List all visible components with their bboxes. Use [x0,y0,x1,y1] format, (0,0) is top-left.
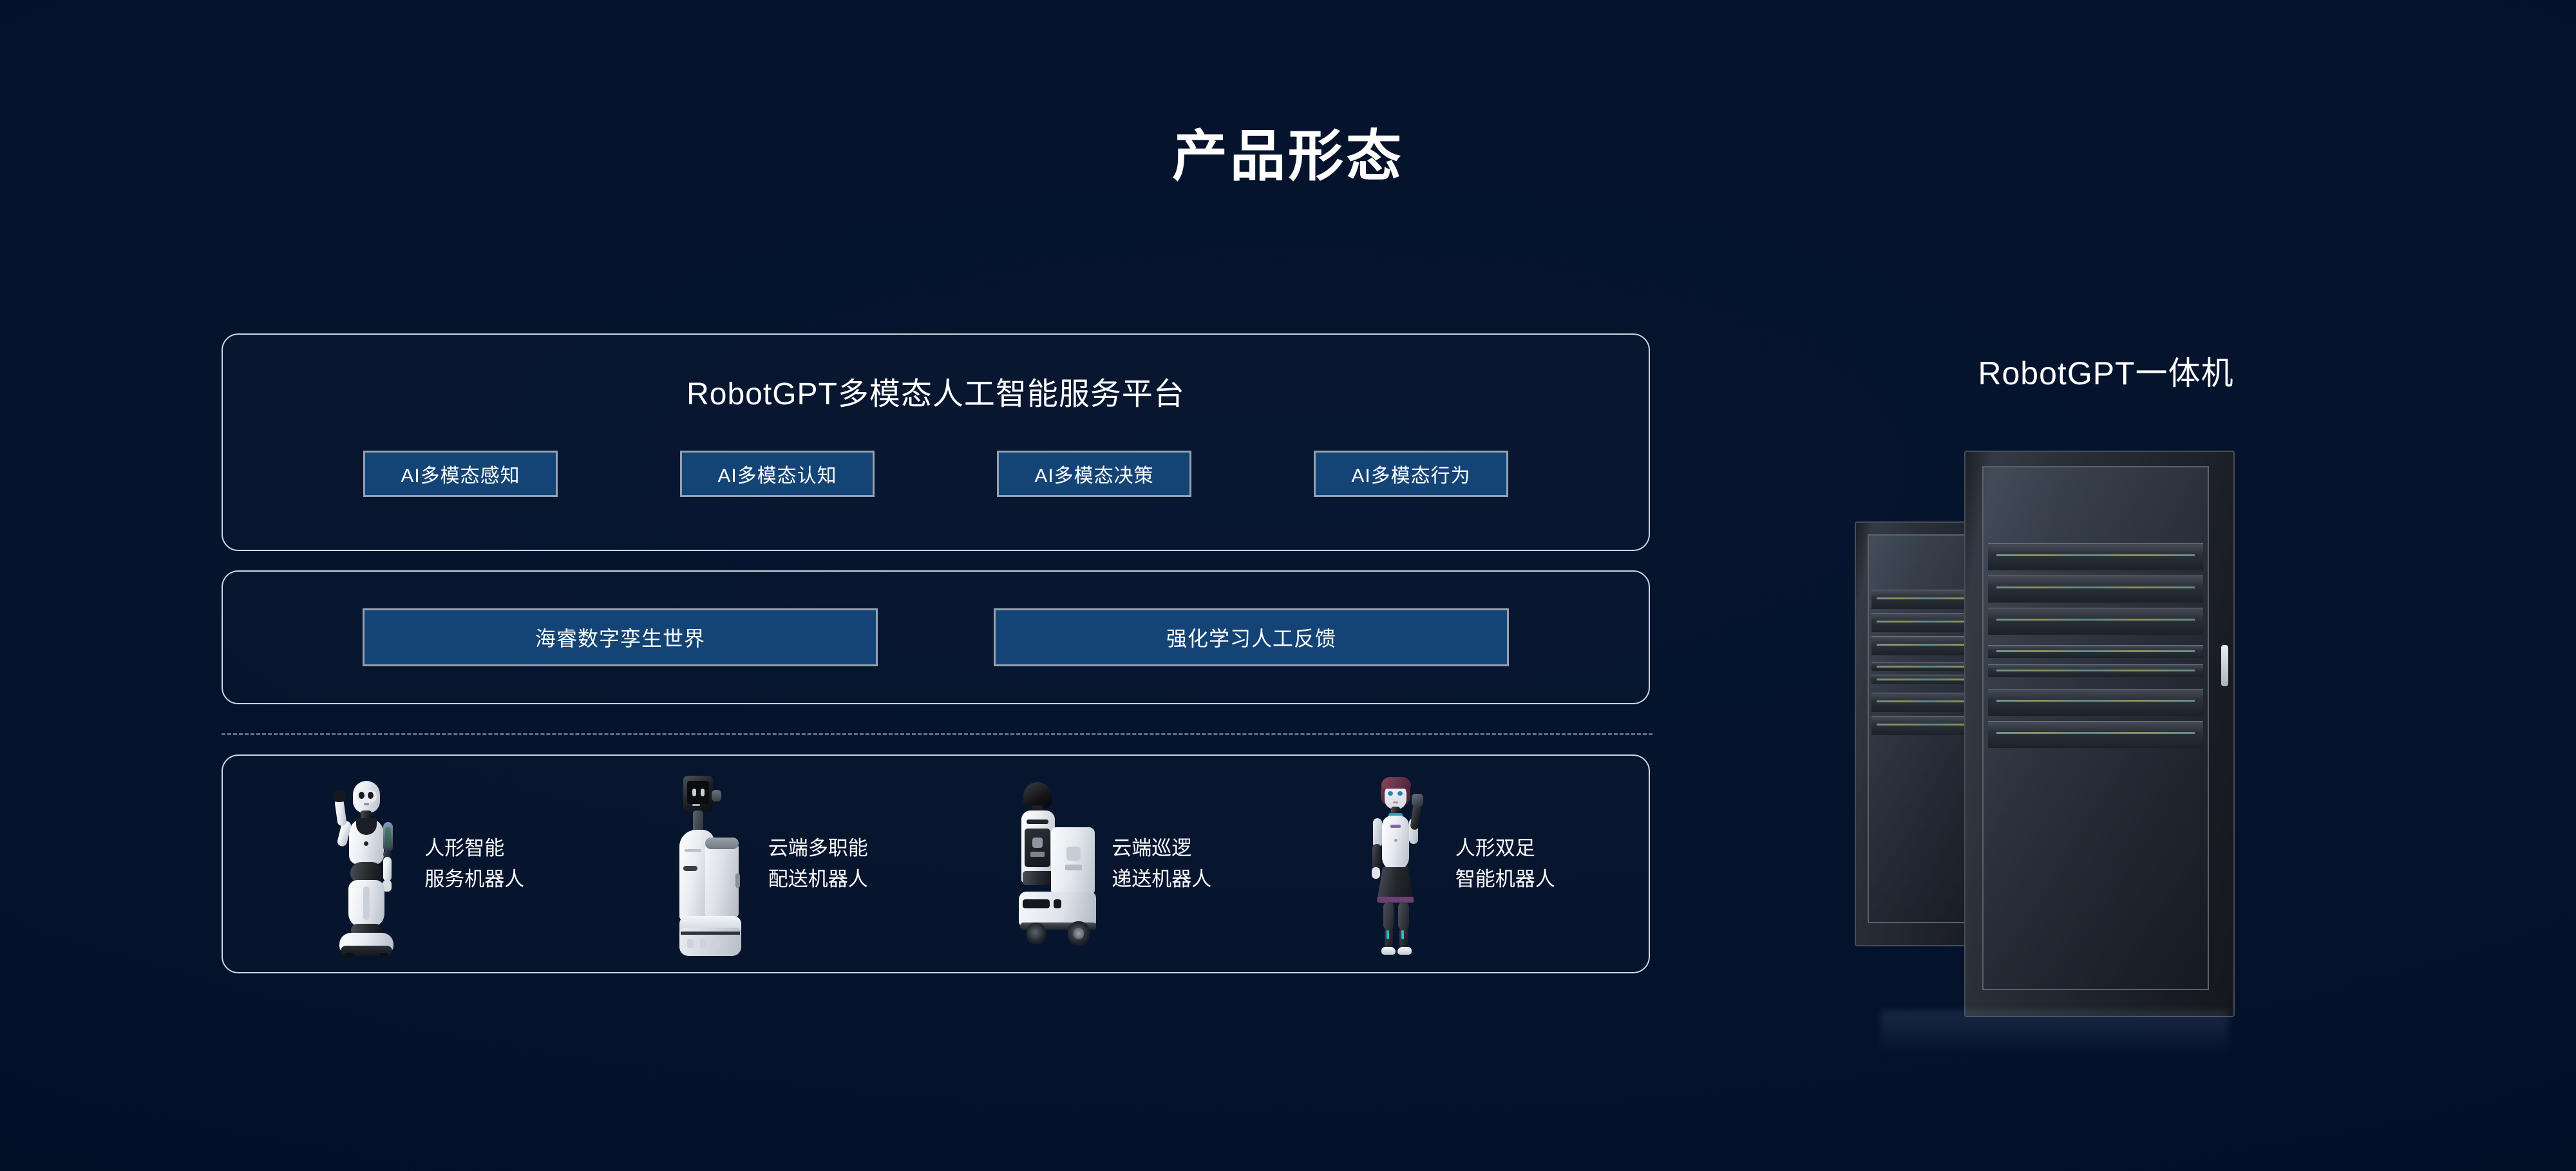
robot-label-humanoid-service: 人形智能 服务机器人 [424,833,524,895]
robot-label-bipedal-humanoid: 人形双足 智能机器人 [1455,833,1555,895]
robot-label-line2: 服务机器人 [424,864,524,895]
patrol-delivery-vehicle-icon [1003,771,1100,957]
robot-item-humanoid-service[interactable]: 人形智能 服务机器人 [316,771,524,957]
robot-label-line1: 云端巡逻 [1112,833,1211,864]
robot-label-line2: 递送机器人 [1112,864,1211,895]
capability-chip-cognition[interactable]: AI多模态认知 [680,451,875,497]
robot-label-line2: 配送机器人 [768,864,868,895]
robot-item-patrol-delivery[interactable]: 云端巡逻 递送机器人 [1003,771,1211,957]
capability-chip-row: AI多模态感知 AI多模态认知 AI多模态决策 AI多模态行为 [223,451,1649,497]
cloud-delivery-robot-icon [660,771,757,957]
capability-chip-perception[interactable]: AI多模态感知 [363,451,558,497]
platform-card: RobotGPT多模态人工智能服务平台 AI多模态感知 AI多模态认知 AI多模… [222,333,1650,551]
robot-label-line1: 云端多职能 [768,833,868,864]
engine-chip-row: 海睿数字孪生世界 强化学习人工反馈 [223,608,1649,666]
server-rack-icon [1855,412,2344,1043]
slide-canvas: 产品形态 RobotGPT多模态人工智能服务平台 AI多模态感知 AI多模态认知… [0,0,2576,1171]
engine-card: 海睿数字孪生世界 强化学习人工反馈 [222,570,1650,704]
appliance-title: RobotGPT一体机 [1816,348,2396,394]
page-title: 产品形态 [0,111,2576,191]
robot-grid: 人形智能 服务机器人 [223,756,1649,972]
capability-chip-decision[interactable]: AI多模态决策 [997,451,1191,497]
robot-label-cloud-delivery: 云端多职能 配送机器人 [768,833,868,895]
robot-label-line2: 智能机器人 [1455,864,1555,895]
platform-title: RobotGPT多模态人工智能服务平台 [223,368,1649,413]
robot-card: 人形智能 服务机器人 [222,754,1650,973]
server-rack-primary [1964,451,2235,1017]
engine-chip-rlhf[interactable]: 强化学习人工反馈 [994,608,1509,666]
bipedal-humanoid-robot-icon [1347,771,1444,957]
robot-label-line1: 人形双足 [1455,833,1555,864]
capability-chip-behavior[interactable]: AI多模态行为 [1314,451,1508,497]
robot-item-cloud-delivery[interactable]: 云端多职能 配送机器人 [660,771,868,957]
robot-label-patrol-delivery: 云端巡逻 递送机器人 [1112,833,1211,895]
robot-label-line1: 人形智能 [424,833,524,864]
engine-chip-digital-twin[interactable]: 海睿数字孪生世界 [363,608,878,666]
section-divider [222,733,1653,735]
robot-item-bipedal-humanoid[interactable]: 人形双足 智能机器人 [1347,771,1555,957]
humanoid-service-robot-icon [316,771,413,957]
